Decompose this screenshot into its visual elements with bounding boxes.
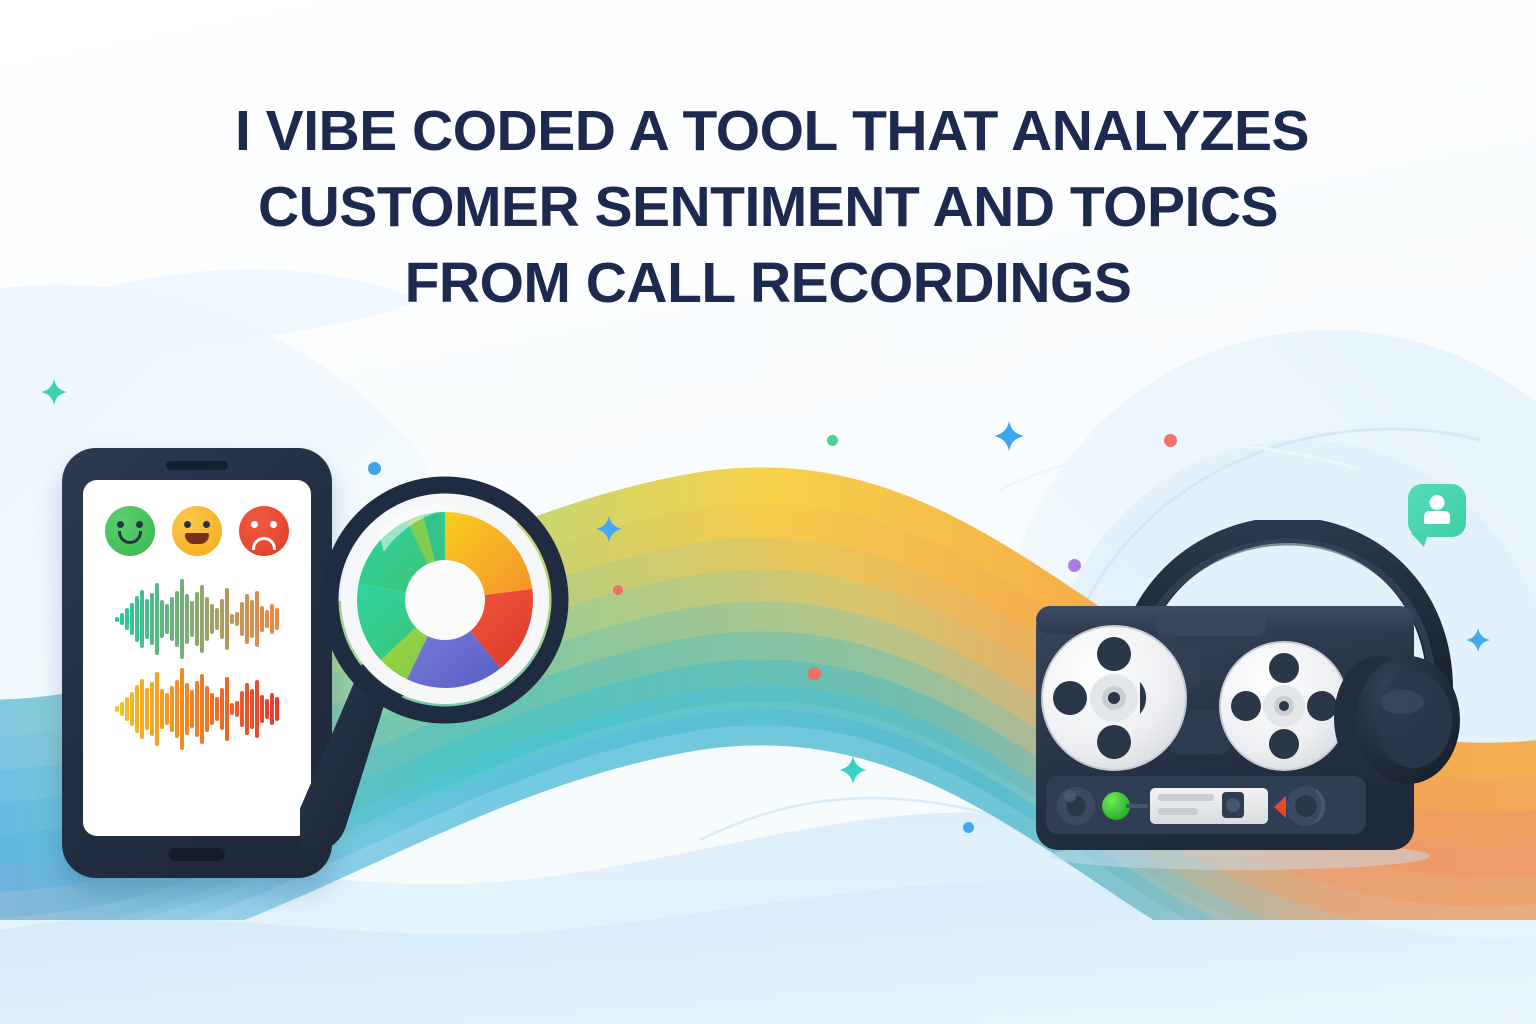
waveform-bar (200, 674, 204, 744)
recorder-vent (1156, 612, 1266, 636)
dot-coral-mid (808, 667, 821, 680)
waveform-bar (115, 617, 119, 622)
recorder-control-panel[interactable] (1046, 776, 1366, 834)
waveform-bar (270, 693, 274, 725)
sparkle-blue-mid-icon (994, 421, 1024, 451)
waveform-bar (120, 702, 124, 716)
phone-home-button[interactable] (169, 848, 225, 861)
page-title-line-1: I VIBE CODED A TOOL THAT ANALYZES (0, 104, 1536, 160)
waveform-bar (245, 594, 249, 644)
waveform-bar (255, 680, 259, 738)
smile-mouth (118, 531, 142, 544)
user-icon (1430, 495, 1445, 510)
waveform-bar (170, 686, 174, 732)
waveform-bar (130, 603, 134, 635)
smartphone-mockup[interactable] (62, 448, 332, 878)
waveform-bar (215, 697, 219, 721)
waveform-bar (205, 686, 209, 732)
poster-canvas: I VIBE CODED A TOOL THAT ANALYZES CUSTOM… (0, 0, 1536, 1024)
waveform-bar (205, 597, 209, 641)
waveform-bar (190, 601, 194, 637)
waveform-bar (165, 604, 169, 634)
negative-face-icon[interactable] (239, 506, 289, 556)
waveform-bar (235, 612, 239, 626)
waveform-bar (230, 703, 234, 715)
waveform-negative[interactable] (91, 664, 303, 754)
phone-screen (83, 480, 311, 836)
sparkle-teal-bottom-icon (839, 756, 867, 784)
waveform-bar (120, 613, 124, 625)
waveform-bar (140, 679, 144, 739)
donut-hub (405, 560, 485, 640)
waveform-bar (275, 697, 279, 721)
waveform-bar (140, 590, 144, 648)
waveform-bar (115, 706, 119, 712)
waveform-bar (245, 683, 249, 735)
waveform-bar (145, 688, 149, 730)
waveform-bar (195, 681, 199, 737)
eye-right (136, 521, 143, 528)
open-mouth (185, 533, 209, 544)
customer-chat-bubble[interactable] (1408, 484, 1466, 537)
page-title: I VIBE CODED A TOOL THAT ANALYZES CUSTOM… (0, 104, 1536, 312)
waveform-bar (125, 608, 129, 630)
waveform-bar (200, 585, 204, 653)
waveform-bar (265, 699, 269, 719)
waveform-bar (225, 588, 229, 650)
waveform-bar (160, 600, 164, 638)
user-icon-body (1424, 511, 1450, 524)
waveform-bar (240, 691, 244, 727)
waveform-bar (220, 688, 224, 730)
tape-reel-left[interactable] (1042, 626, 1186, 770)
waveform-bar (195, 592, 199, 646)
waveform-bar (275, 608, 279, 630)
dot-coral-left (613, 585, 623, 595)
eye-right (203, 521, 210, 528)
power-led (1102, 792, 1130, 820)
eye-left (251, 521, 258, 528)
waveform-bar (180, 579, 184, 659)
reel-to-reel-tape-recorder[interactable] (1010, 520, 1480, 880)
waveform-bar (190, 690, 194, 728)
dot-blue-drop (963, 822, 974, 833)
headphone-ear-cup[interactable] (1334, 656, 1460, 784)
waveform-bar (185, 594, 189, 644)
waveform-bar (210, 604, 214, 634)
waveform-bar (155, 583, 159, 655)
eye-left (117, 521, 124, 528)
display-panel (1150, 788, 1268, 824)
waveform-bar (235, 701, 239, 717)
waveform-bar (230, 614, 234, 624)
waveform-bar (130, 692, 134, 726)
magnifying-glass[interactable] (300, 468, 600, 878)
waveform-bar (250, 600, 254, 638)
dot-coral-right (1164, 434, 1177, 447)
waveform-bar (240, 602, 244, 636)
waveform-bar (260, 606, 264, 632)
waveform-bar (125, 697, 129, 721)
phone-speaker-notch (166, 461, 228, 470)
waveform-bar (170, 597, 174, 641)
waveform-positive[interactable] (91, 574, 303, 664)
waveform-bar (210, 693, 214, 725)
page-title-line-2: CUSTOMER SENTIMENT AND TOPICS (0, 180, 1536, 236)
tape-reel-right[interactable] (1220, 642, 1348, 770)
waveform-bar (150, 593, 154, 645)
eye-right (270, 521, 277, 528)
waveform-bar (225, 677, 229, 741)
waveform-bar (155, 672, 159, 746)
neutral-face-icon[interactable] (172, 506, 222, 556)
waveform-bar (160, 689, 164, 729)
sparkle-teal-left-icon (41, 379, 67, 405)
waveform-bar (185, 683, 189, 735)
dot-green-mid (827, 435, 838, 446)
page-title-line-3: FROM CALL RECORDINGS (0, 256, 1536, 312)
frown-mouth (252, 537, 276, 550)
waveform-bar (175, 591, 179, 647)
eye-left (184, 521, 191, 528)
waveform-bar (250, 689, 254, 729)
waveform-bar (265, 610, 269, 628)
waveform-bar (270, 604, 274, 634)
waveform-bar (255, 591, 259, 647)
waveform-bar (220, 599, 224, 639)
sentiment-face-row (83, 480, 311, 556)
waveform-bar (175, 680, 179, 738)
waveform-bar (145, 599, 149, 639)
waveform-area (83, 574, 311, 754)
waveform-bar (165, 693, 169, 725)
positive-face-icon[interactable] (105, 506, 155, 556)
waveform-bar (135, 596, 139, 642)
waveform-bar (215, 608, 219, 630)
waveform-bar (135, 685, 139, 733)
waveform-bar (180, 668, 184, 750)
waveform-bar (150, 682, 154, 736)
waveform-bar (260, 695, 264, 723)
